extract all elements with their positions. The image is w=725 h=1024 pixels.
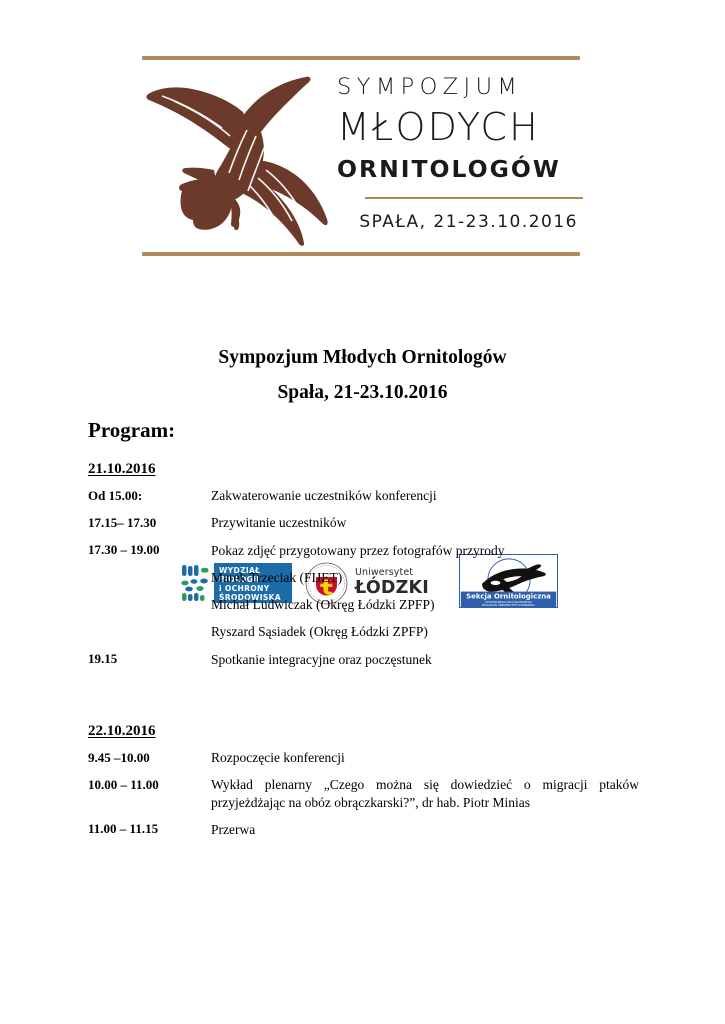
schedule-row: Marek Trzeciak (FIJET) — [88, 569, 648, 586]
program-heading: Program: — [88, 418, 175, 443]
schedule-description: Zakwaterowanie uczestników konferencji — [211, 487, 648, 504]
schedule-time: 9.45 –10.00 — [88, 749, 211, 766]
schedule-description: Marek Trzeciak (FIJET) — [211, 569, 648, 586]
flying-godwit-icon — [144, 74, 344, 246]
schedule-time: 10.00 – 11.00 — [88, 776, 211, 793]
schedule-time: 17.30 – 19.00 — [88, 542, 211, 559]
schedule-time — [88, 596, 211, 597]
schedule-row: Od 15.00: Zakwaterowanie uczestników kon… — [88, 487, 648, 504]
schedule-day-1: 21.10.2016 Od 15.00: Zakwaterowanie ucze… — [88, 460, 648, 678]
schedule-row: Michał Ludwiczak (Okręg Łódzki ZPFP) — [88, 596, 648, 613]
schedule-row: 10.00 – 11.00 Wykład plenarny „Czego moż… — [88, 776, 648, 811]
wordmark-divider-rule — [365, 197, 583, 199]
header-bottom-rule — [142, 252, 580, 256]
schedule-row: Ryszard Sąsiadek (Okręg Łódzki ZPFP) — [88, 623, 648, 640]
wordmark-line-sympozjum: SYMPOZJUM — [337, 76, 580, 99]
document-page: { "logo": { "bird_icon": "flying-godwit-… — [0, 0, 725, 1024]
header-inner: SYMPOZJUM MŁODYCH ORNITOLOGÓW SPAŁA, 21-… — [142, 60, 580, 256]
schedule-time — [88, 623, 211, 624]
schedule-description: Wykład plenarny „Czego można się dowiedz… — [211, 776, 639, 811]
schedule-description: Przywitanie uczestników — [211, 514, 648, 531]
event-logo-header: SYMPOZJUM MŁODYCH ORNITOLOGÓW SPAŁA, 21-… — [142, 56, 580, 261]
schedule-time: 19.15 — [88, 651, 211, 668]
schedule-day-date: 22.10.2016 — [88, 723, 156, 740]
schedule-row: 11.00 – 11.15 Przerwa — [88, 821, 648, 838]
schedule-row: 19.15 Spotkanie integracyjne oraz poczęs… — [88, 651, 648, 668]
schedule-description: Michał Ludwiczak (Okręg Łódzki ZPFP) — [211, 596, 648, 613]
schedule-time: 11.00 – 11.15 — [88, 821, 211, 838]
wordmark: SYMPOZJUM MŁODYCH ORNITOLOGÓW SPAŁA, 21-… — [337, 76, 580, 232]
schedule-description: Pokaz zdjęć przygotowany przez fotografó… — [211, 542, 648, 559]
schedule-time: 17.15– 17.30 — [88, 514, 211, 531]
schedule-time: Od 15.00: — [88, 487, 211, 504]
schedule-time — [88, 569, 211, 570]
wordmark-line-place-date: SPAŁA, 21-23.10.2016 — [337, 212, 580, 232]
schedule-row: 17.30 – 19.00 Pokaz zdjęć przygotowany p… — [88, 542, 648, 559]
sponsor-logos-row: WYDZIAŁ BIOLOGII i OCHRONY ŚRODOWISKA Un… — [0, 276, 725, 338]
wordmark-line-ornitologow: ORNITOLOGÓW — [337, 158, 580, 182]
schedule-row: 9.45 –10.00 Rozpoczęcie konferencji — [88, 749, 648, 766]
schedule-day-date: 21.10.2016 — [88, 461, 156, 478]
schedule-description: Przerwa — [211, 821, 648, 838]
schedule-description: Ryszard Sąsiadek (Okręg Łódzki ZPFP) — [211, 623, 648, 640]
page-title: Sympozjum Młodych Ornitologów — [0, 347, 725, 369]
schedule-description: Spotkanie integracyjne oraz poczęstunek — [211, 651, 648, 668]
schedule-description: Rozpoczęcie konferencji — [211, 749, 648, 766]
page-subtitle: Spała, 21-23.10.2016 — [0, 382, 725, 404]
wordmark-line-mlodych: MŁODYCH — [337, 106, 580, 149]
schedule-row: 17.15– 17.30 Przywitanie uczestników — [88, 514, 648, 531]
schedule-day-2: 22.10.2016 9.45 –10.00 Rozpoczęcie konfe… — [88, 722, 648, 848]
